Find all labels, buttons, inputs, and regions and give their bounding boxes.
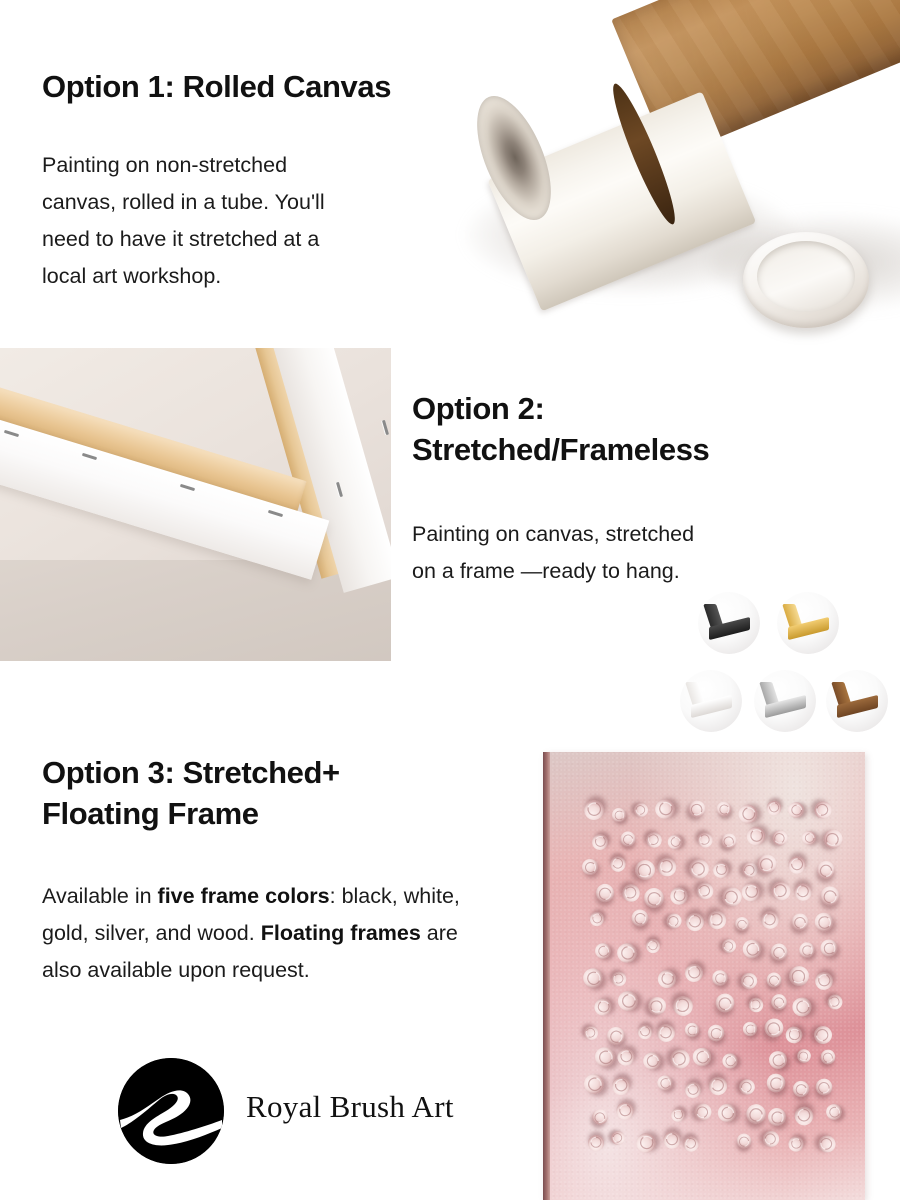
impasto-dot <box>672 995 694 1017</box>
impasto-dot <box>608 1073 633 1098</box>
impasto-dot <box>660 1128 685 1153</box>
impasto-dot <box>798 942 814 958</box>
impasto-dot <box>785 799 807 821</box>
impasto-dot <box>644 936 664 956</box>
impasto-dot <box>654 1021 677 1044</box>
impasto-dot <box>763 970 784 991</box>
impasto-dot <box>788 965 808 985</box>
impasto-dot <box>824 1102 845 1123</box>
impasto-dot <box>713 862 729 878</box>
impasto-dot <box>706 1074 729 1097</box>
impasto-dot <box>708 911 727 930</box>
impasto-dot <box>799 828 819 848</box>
impasto-dot <box>822 828 845 851</box>
impasto-dot <box>580 965 606 991</box>
frame-corner-icon <box>763 680 807 722</box>
impasto-dot <box>732 914 752 934</box>
frame-swatch-wood[interactable] <box>826 670 888 732</box>
impasto-dot <box>767 940 791 964</box>
frame-corner-icon <box>707 602 751 644</box>
impasto-dot <box>580 797 607 824</box>
impasto-dot <box>635 1022 655 1042</box>
impasto-dot <box>746 825 766 845</box>
impasto-dot <box>653 796 678 821</box>
emphasis-text: five frame colors <box>158 884 330 908</box>
impasto-dot <box>592 997 613 1018</box>
impasto-dot <box>612 808 626 822</box>
impasto-dot <box>635 860 656 881</box>
impasto-dot <box>814 912 834 932</box>
impasto-dot <box>791 880 815 904</box>
impasto-dot <box>644 830 663 849</box>
impasto-dot <box>681 1134 701 1154</box>
impasto-dot <box>748 998 763 1013</box>
impasto-dot <box>582 1024 600 1042</box>
impasto-dot <box>683 962 706 985</box>
impasto-dot <box>759 908 782 931</box>
impasto-dot <box>607 854 628 875</box>
impasto-dot <box>741 882 761 902</box>
stretched-canvas-photo <box>0 348 391 661</box>
impasto-dot <box>614 939 642 967</box>
frame-color-swatches <box>680 592 890 732</box>
impasto-dot <box>592 880 617 905</box>
impasto-dot <box>714 1100 740 1126</box>
brand-name: Royal Brush Art <box>246 1089 454 1125</box>
impasto-dot <box>706 1023 726 1043</box>
frame-swatch-silver[interactable] <box>754 670 816 732</box>
impasto-dot <box>764 798 784 818</box>
impasto-dot <box>584 1132 607 1155</box>
impasto-dot <box>811 798 835 822</box>
impasto-dot <box>811 1022 836 1047</box>
option-3-body: Available in five frame colors: black, w… <box>42 878 502 989</box>
frame-corner-icon <box>786 602 830 644</box>
impasto-dot <box>613 1099 637 1123</box>
option-1-body: Painting on non-stretched canvas, rolled… <box>42 147 452 295</box>
impasto-dot <box>620 883 640 903</box>
impasto-dot <box>719 831 738 850</box>
impasto-dot <box>696 832 713 849</box>
impasto-dot <box>769 878 793 902</box>
impasto-dot <box>768 1107 787 1126</box>
impasto-dot <box>684 1023 698 1037</box>
impasto-dot <box>768 991 790 1013</box>
impasto-dot <box>789 994 816 1021</box>
impasto-dot <box>690 1044 716 1070</box>
impasto-dot <box>656 1074 675 1093</box>
royal-brush-art-mark-icon <box>118 1058 224 1164</box>
impasto-dot <box>719 937 738 956</box>
impasto-dot <box>743 1100 771 1128</box>
impasto-dot <box>796 1047 812 1063</box>
plain-text: Available in <box>42 884 158 908</box>
impasto-dot <box>670 886 689 905</box>
impasto-dot <box>592 940 613 961</box>
impasto-dot <box>647 996 667 1016</box>
impasto-dot <box>790 1078 812 1100</box>
impasto-dot <box>694 880 716 902</box>
impasto-dot <box>816 882 843 909</box>
impasto-dot <box>608 1129 627 1148</box>
option-2-body: Painting on canvas, stretched on a frame… <box>412 516 832 590</box>
impasto-dot <box>760 1128 783 1151</box>
impasto-dot <box>632 800 652 820</box>
impasto-dot <box>735 801 761 827</box>
impasto-dot <box>657 857 676 876</box>
impasto-dot <box>667 1046 694 1073</box>
impasto-dot <box>716 800 733 817</box>
impasto-dot <box>712 990 738 1016</box>
impasto-dot <box>589 1107 610 1128</box>
impasto-dot <box>742 1022 756 1036</box>
frame-corner-icon <box>689 680 733 722</box>
impasto-dot <box>629 907 651 929</box>
impasto-dot <box>791 1103 817 1129</box>
floating-frame-artwork-photo <box>543 752 865 1200</box>
impasto-dot <box>826 993 844 1011</box>
impasto-dot <box>580 1071 607 1098</box>
rolled-canvas-photo <box>455 0 900 355</box>
impasto-dot <box>734 1131 755 1152</box>
frame-corner-icon <box>835 680 879 722</box>
impasto-dot <box>815 1132 839 1156</box>
tube-end-cap <box>743 232 869 328</box>
impasto-dot <box>611 971 628 988</box>
impasto-dot <box>720 1050 741 1071</box>
impasto-dot <box>814 858 839 883</box>
impasto-dot <box>615 1046 637 1068</box>
impasto-dot <box>682 1079 704 1101</box>
impasto-dot <box>640 885 667 912</box>
impasto-dot <box>765 1072 787 1094</box>
option-3-heading: Option 3: Stretched+ Floating Frame <box>42 752 472 834</box>
impasto-dot <box>817 1047 837 1067</box>
impasto-dot <box>761 1016 786 1041</box>
impasto-dot <box>712 970 729 987</box>
impasto-dot <box>682 910 707 935</box>
impasto-dot <box>604 1024 627 1047</box>
impasto-dot <box>664 910 684 930</box>
impasto-dot <box>740 936 765 961</box>
impasto-dot <box>738 969 760 991</box>
emphasis-text: Floating frames <box>261 921 421 945</box>
impasto-dot <box>771 829 790 848</box>
impasto-dot <box>591 833 610 852</box>
impasto-dot <box>786 1027 803 1044</box>
option-2-heading: Option 2: Stretched/Frameless <box>412 388 852 470</box>
poster-canvas: Option 1: Rolled Canvas Painting on non-… <box>0 0 900 1200</box>
impasto-dot <box>665 832 685 852</box>
impasto-dot <box>591 1043 617 1069</box>
frame-swatch-white[interactable] <box>680 670 742 732</box>
impasto-dot <box>787 1135 805 1153</box>
impasto-dot <box>618 828 639 849</box>
impasto-dot <box>812 969 835 992</box>
impasto-dot <box>640 1049 665 1074</box>
impasto-dot <box>614 987 642 1015</box>
impasto-dot <box>671 1107 686 1122</box>
impasto-dot <box>812 1075 835 1098</box>
impasto-dot <box>785 853 810 878</box>
impasto-dot <box>588 910 606 928</box>
impasto-dot-field <box>543 752 865 1200</box>
frame-swatch-black[interactable] <box>698 592 760 654</box>
impasto-dot <box>819 939 837 957</box>
impasto-dot <box>635 1132 658 1155</box>
impasto-dot <box>656 968 678 990</box>
impasto-dot <box>582 859 598 875</box>
option-1-heading: Option 1: Rolled Canvas <box>42 66 492 107</box>
impasto-dot <box>687 798 708 819</box>
impasto-dot <box>685 855 713 883</box>
impasto-dot <box>692 1100 715 1123</box>
impasto-dot <box>736 1076 758 1098</box>
impasto-dot <box>757 854 777 874</box>
impasto-dot <box>788 910 812 934</box>
impasto-dot <box>767 1048 790 1071</box>
frame-swatch-gold[interactable] <box>777 592 839 654</box>
